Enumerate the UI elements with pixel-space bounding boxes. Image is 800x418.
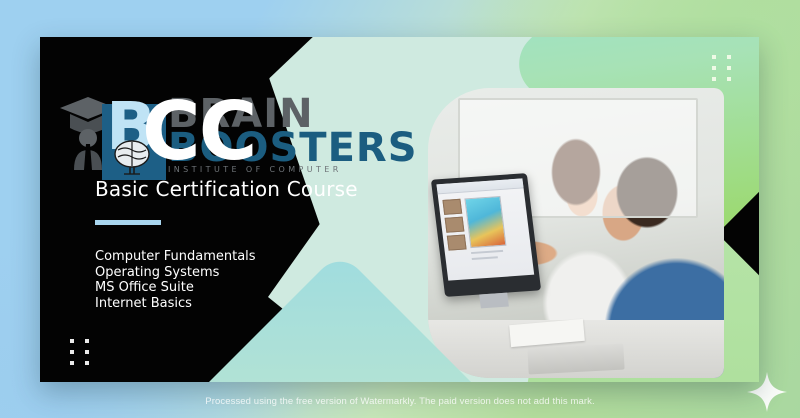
list-item: MS Office Suite	[95, 280, 256, 296]
monitor-stand	[479, 293, 509, 309]
photo-panel	[428, 88, 724, 378]
watermark-text: Processed using the free version of Wate…	[0, 396, 800, 407]
title-divider	[95, 220, 161, 225]
desktop-monitor	[431, 173, 541, 297]
photo-two-people-at-computer	[428, 88, 724, 378]
thumbnail	[445, 217, 465, 233]
text-line	[472, 256, 498, 260]
monitor-screen	[436, 178, 534, 280]
screenshot-canvas: BRAIN BOOSTERS INSTITUTE OF COMPUTER B	[0, 0, 800, 418]
topics-list: Computer Fundamentals Operating Systems …	[95, 249, 256, 311]
list-item: Operating Systems	[95, 265, 256, 281]
list-item: Computer Fundamentals	[95, 249, 256, 265]
slide-subtitle: Basic Certification Course	[95, 177, 358, 201]
presentation-slide: BRAIN BOOSTERS INSTITUTE OF COMPUTER B	[40, 37, 759, 382]
list-item: Internet Basics	[95, 296, 256, 312]
laptop	[527, 344, 624, 375]
dot-grid-bottom-left	[70, 339, 89, 365]
text-line	[471, 250, 503, 254]
document-preview	[464, 196, 506, 248]
dot-grid-top-right	[712, 55, 731, 81]
thumbnail	[442, 199, 462, 215]
logo-letters-cc: CC	[142, 92, 255, 172]
app-toolbar	[436, 178, 523, 194]
thumbnail	[447, 234, 467, 250]
